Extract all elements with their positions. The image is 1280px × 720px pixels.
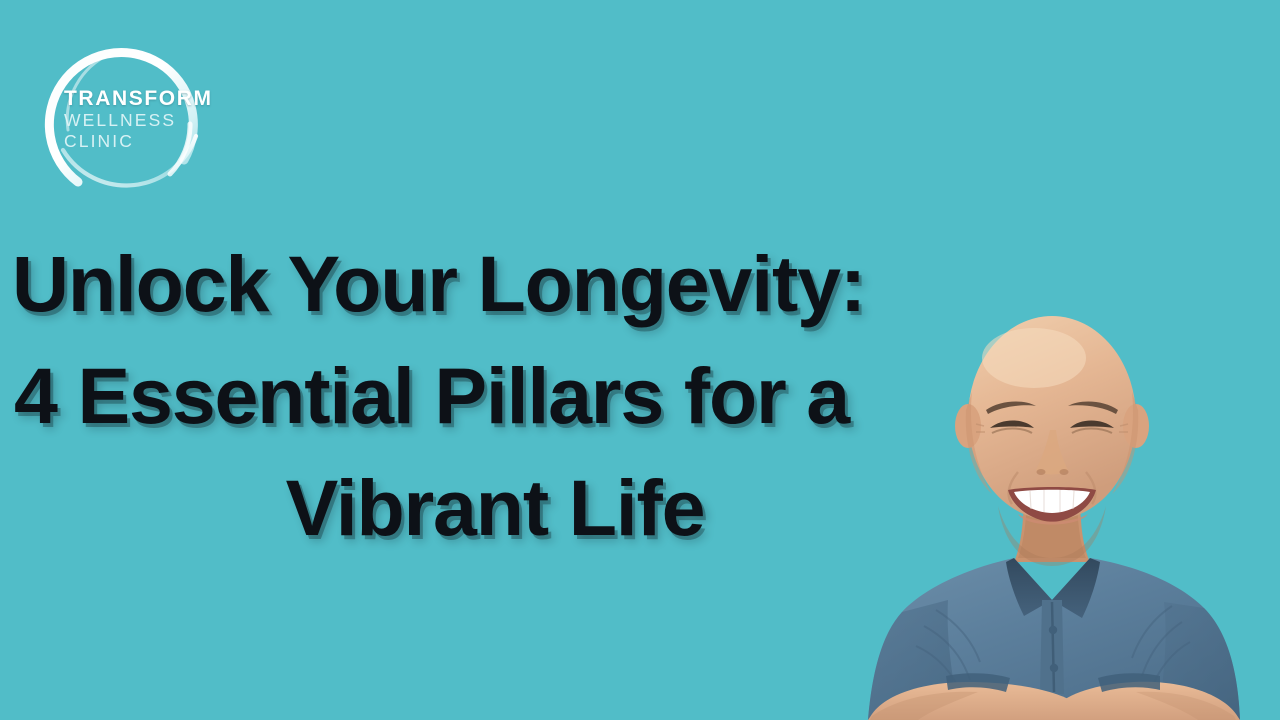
logo-ring-icon [38,32,216,210]
presenter-photo [828,300,1280,720]
presenter-illustration [828,300,1280,720]
thumbnail-canvas: TRANSFORM WELLNESS CLINIC Unlock Your Lo… [0,0,1280,720]
brand-logo: TRANSFORM WELLNESS CLINIC [38,32,216,210]
